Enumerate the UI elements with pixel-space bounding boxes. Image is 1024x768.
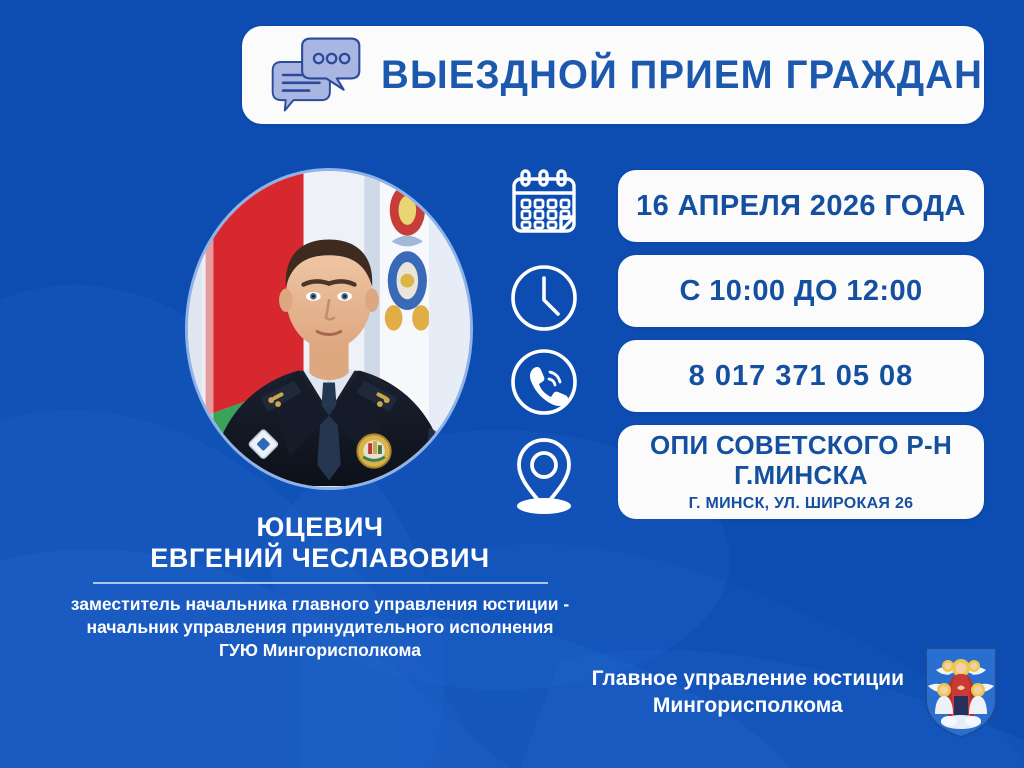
page-title: ВЫЕЗДНОЙ ПРИЕМ ГРАЖДАН [381, 53, 1008, 98]
card-time-value: С 10:00 ДО 12:00 [679, 275, 922, 308]
person-surname: ЮЦЕВИЧ [0, 512, 640, 543]
person-role-line-2: начальник управления принудительного исп… [0, 616, 640, 639]
portrait-photo [185, 168, 473, 490]
card-location: ОПИ СОВЕТСКОГО Р-Н Г.МИНСКА Г. МИНСК, УЛ… [618, 425, 984, 519]
info-icon-column [494, 166, 594, 516]
header-bar: ВЫЕЗДНОЙ ПРИЕМ ГРАЖДАН [242, 26, 984, 124]
clock-icon [508, 262, 580, 334]
footer: Главное управление юстиции Мингорисполко… [592, 644, 1000, 740]
card-location-line-2: Г.МИНСКА [734, 460, 868, 490]
person-given-name: ЕВГЕНИЙ ЧЕСЛАВОВИЧ [0, 543, 640, 574]
footer-org-name: Главное управление юстиции Мингорисполко… [592, 665, 904, 719]
footer-org-line-2: Мингорисполкома [592, 692, 904, 719]
map-pin-icon [505, 432, 583, 516]
card-location-address: Г. МИНСК, УЛ. ШИРОКАЯ 26 [689, 494, 914, 514]
card-date: 16 АПРЕЛЯ 2026 ГОДА [618, 170, 984, 242]
person-info-block: ЮЦЕВИЧ ЕВГЕНИЙ ЧЕСЛАВОВИЧ заместитель на… [0, 512, 640, 662]
card-phone[interactable]: 8 017 371 05 08 [618, 340, 984, 412]
poster-root: ВЫЕЗДНОЙ ПРИЕМ ГРАЖДАН [0, 0, 1024, 768]
minsk-coat-of-arms-icon [922, 644, 1000, 740]
footer-org-line-1: Главное управление юстиции [592, 665, 904, 692]
info-cards: 16 АПРЕЛЯ 2026 ГОДА С 10:00 ДО 12:00 8 0… [618, 170, 984, 519]
speech-bubbles-icon [264, 36, 368, 114]
name-divider [93, 582, 548, 584]
person-role-line-1: заместитель начальника главного управлен… [0, 593, 640, 616]
card-location-line-1: ОПИ СОВЕТСКОГО Р-Н [650, 430, 952, 460]
calendar-icon [505, 166, 583, 244]
person-role-line-3: ГУЮ Мингорисполкома [0, 639, 640, 662]
card-phone-value: 8 017 371 05 08 [689, 360, 914, 393]
phone-icon [508, 346, 580, 418]
card-time: С 10:00 ДО 12:00 [618, 255, 984, 327]
card-date-value: 16 АПРЕЛЯ 2026 ГОДА [636, 190, 966, 223]
